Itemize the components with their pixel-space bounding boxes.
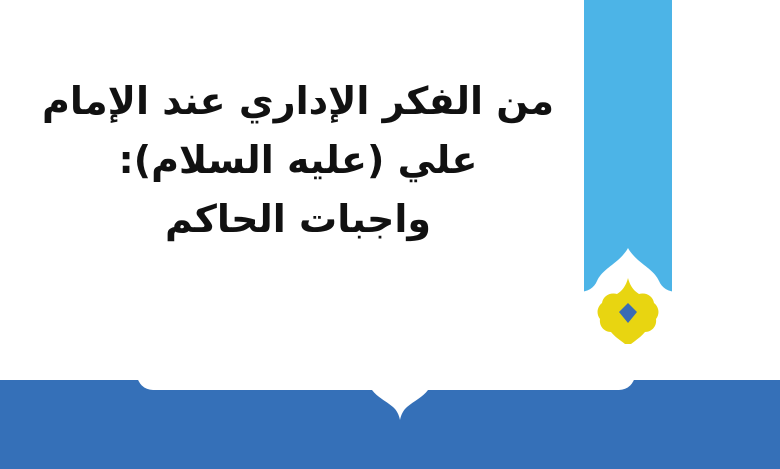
headline-line-3: واجبات الحاكم [28, 190, 568, 249]
page-title: من الفكر الإداري عند الإمام علي (عليه ال… [28, 72, 568, 249]
white-ogee-finial-icon [352, 372, 448, 420]
slide-canvas: من الفكر الإداري عند الإمام علي (عليه ال… [0, 0, 780, 469]
headline-line-2: علي (عليه السلام): [28, 131, 568, 190]
headline-line-1: من الفكر الإداري عند الإمام [28, 72, 568, 131]
light-blue-vertical-band [584, 0, 672, 305]
